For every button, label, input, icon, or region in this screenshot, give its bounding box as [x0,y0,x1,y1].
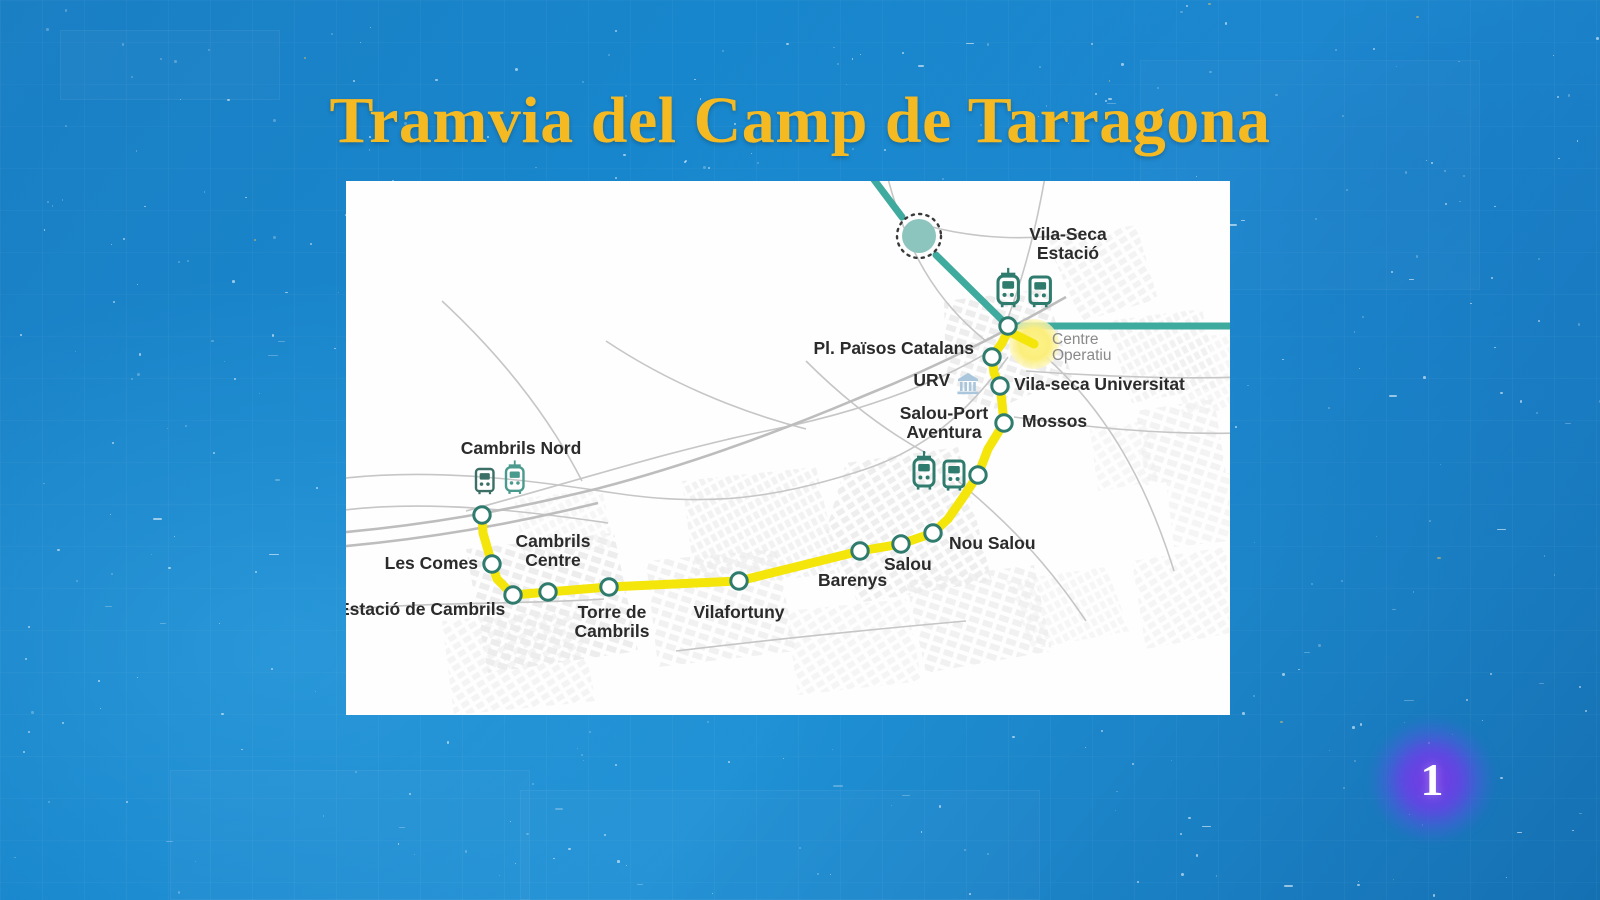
station-label-torre-de-cambrils[interactable]: Torre de Cambrils [551,603,673,640]
sparkle-dot [28,626,30,628]
station-marker-estacio-de-cambrils[interactable]: Estació de Cambrils [505,587,521,603]
station-label-nou-salou[interactable]: Nou Salou [949,534,1036,553]
sparkle-dot [1360,723,1362,725]
sparkle-dot [515,68,518,71]
sparkle-dot [1202,826,1212,827]
sparkle-dot [708,167,710,169]
sparkle-dot [1359,368,1360,369]
sparkle-dot [1109,80,1111,82]
sparkle-dot [1091,43,1093,45]
sparkle-dot [166,841,173,842]
sparkle-dot [52,205,53,206]
sparkle-dot [1544,555,1546,557]
sparkle-dot [604,834,606,836]
sparkle-dot [535,167,537,169]
station-label-vila-seca-universitat[interactable]: Vila-seca Universitat [1014,375,1185,394]
sparkle-dot [1196,176,1197,177]
sparkle-dot [23,751,25,753]
sparkle-dot [46,28,49,31]
sparkle-dot [1328,407,1330,409]
sparkle-dot [355,771,358,774]
sparkle-dot [939,805,942,808]
sparkle-dot [902,795,910,796]
sparkle-dot [1491,277,1493,279]
sparkle-dot [1416,16,1419,19]
sparkle-dot [1137,881,1139,883]
sparkle-dot [224,361,225,362]
sparkle-dot [1404,700,1414,701]
sparkle-dot [1538,320,1540,322]
sparkle-dot [1180,11,1183,14]
sparkle-dot [254,239,256,241]
sparkle-dot [1558,158,1559,159]
sparkle-dot [1373,48,1375,50]
sparkle-dot [208,49,210,51]
sparkle-dot [1494,347,1496,349]
sparkle-dot [852,58,853,59]
sparkle-dot [1208,3,1210,5]
sparkle-dot [65,9,68,12]
sparkle-dot [583,760,585,762]
sparkle-dot [1280,721,1283,724]
sparkle-dot [174,60,177,63]
sparkle-dot [964,849,966,851]
sparkle-dot [1247,385,1249,387]
sparkle-dot [1181,873,1184,876]
sparkle-dot [617,860,620,863]
sparkle-dot [272,334,275,337]
sparkle-dot [1585,710,1587,712]
sparkle-dot [123,238,126,241]
sparkle-dot [568,848,571,851]
sparkle-dot [268,355,277,356]
station-label-barenys[interactable]: Barenys [818,571,887,590]
sparkle-dot [195,861,196,862]
sparkle-dot [783,758,784,759]
sparkle-dot [1188,817,1191,820]
sparkle-dot [278,341,285,342]
sparkle-dot [1376,536,1377,537]
sparkle-dot [113,301,115,303]
sparkle-dot [1196,854,1198,856]
sparkle-dot [577,748,578,749]
sparkle-dot [1304,652,1310,653]
sparkle-dot [178,261,180,263]
sparkle-dot [234,378,236,380]
station-label-vilafortuny[interactable]: Vilafortuny [672,603,806,622]
station-marker-vila-seca-universitat[interactable]: Vila-seca Universitat [992,378,1008,394]
sparkle-dot [259,393,260,394]
sparkle-dot [722,50,724,52]
sparkle-dot [637,884,643,885]
sparkle-dot [1579,686,1581,688]
sparkle-dot [1298,669,1300,671]
slide-canvas: Tramvia del Camp de Tarragona [0,0,1600,900]
sparkle-dot [1500,392,1502,394]
sparkle-dot [526,833,529,836]
sparkle-dot [331,33,333,35]
sparkle-dot [137,284,138,285]
sparkle-dot [1121,63,1123,65]
sparkle-dot [969,893,971,895]
sparkle-dot [918,65,924,66]
sparkle-dot [62,722,64,724]
sparkle-dot [1437,557,1441,558]
sparkle-dot [111,244,112,245]
sparkle-dot [1396,66,1398,68]
station-label-urv[interactable]: URV [866,371,950,390]
sparkle-dot [232,280,235,283]
sparkle-dot [987,43,990,46]
station-label-mossos[interactable]: Mossos [1022,412,1087,431]
sparkle-dot [1318,644,1321,647]
station-marker-torre-de-cambrils[interactable]: Torre de Cambrils [601,579,617,595]
sparkle-dot [1171,760,1172,761]
station-label-estacio-de-cambrils[interactable]: Estació de Cambrils [346,600,505,619]
sparkle-dot [1132,763,1134,765]
sparkle-dot [1362,316,1364,318]
sparkle-dot [581,754,583,756]
sparkle-dot [1241,220,1246,221]
station-marker-salou[interactable]: Salou [893,536,909,552]
sparkle-dot [241,749,243,751]
sparkle-dot [1553,55,1554,56]
sparkle-dot [1536,412,1538,414]
sparkle-dot [1423,376,1426,379]
sparkle-dot [323,815,325,817]
sparkle-dot [902,52,904,54]
station-marker-cambrils-centre[interactable]: Cambrils Centre [540,584,556,600]
sparkle-dot [1012,736,1015,739]
sparkle-dot [139,353,142,356]
sparkle-dot [110,514,111,515]
sparkle-dot [43,483,44,484]
tram-network-map[interactable]: Cambrils NordLes ComesEstació de Cambril… [346,181,1230,715]
slide-number: 1 [1421,757,1444,803]
sparkle-dot [1490,673,1492,675]
sparkle-dot [532,783,534,785]
sparkle-dot [860,54,861,55]
sparkle-dot [1391,271,1393,273]
sparkle-dot [20,334,22,336]
sparkle-dot [47,201,49,203]
sparkle-dot [271,668,273,670]
sparkle-dot [1497,529,1506,530]
sparkle-dot [168,567,170,569]
sparkle-dot [153,518,162,519]
sparkle-dot [131,76,133,78]
sparkle-dot [334,348,335,349]
sparkle-dot [515,863,516,864]
depot-label-centre-operatiu: Centre Operatiu [1052,332,1172,365]
sparkle-dot [285,292,288,293]
sparkle-dot [1416,255,1419,258]
station-marker-salou-port-aventura[interactable]: Salou-Port Aventura [970,467,986,483]
sparkle-dot [48,801,50,803]
sparkle-dot [14,857,16,859]
sparkle-dot [1517,832,1522,833]
sparkle-dot [1329,750,1330,751]
sparkle-dot [786,43,788,45]
sparkle-dot [1389,395,1397,396]
sparkle-dot [553,858,555,860]
sparkle-dot [728,761,730,763]
sparkle-dot [398,843,400,845]
sparkle-dot [1341,580,1344,583]
sparkle-dot [187,260,189,262]
sparkle-dot [315,691,316,692]
sparkle-dot [1494,206,1495,207]
station-marker-vila-seca-estacio[interactable]: Vila-Seca Estació [1000,318,1016,334]
sparkle-dot [582,81,585,84]
station-marker-cambrils-nord[interactable]: Cambrils Nord [474,507,490,523]
sparkle-dot [269,554,279,555]
sparkle-dot [174,536,175,537]
sparkle-dot [1539,683,1544,684]
sparkle-dot [1426,160,1427,161]
sparkle-dot [987,853,990,856]
sparkle-dot [28,731,30,733]
sparkle-dot [757,162,759,164]
sparkle-dot [255,571,257,573]
sparkle-dot [830,874,831,875]
sparkle-dot [942,178,944,180]
sparkle-dot [137,677,138,678]
sparkle-dot [1440,464,1441,465]
sparkle-dot [204,191,206,193]
sparkle-dot [111,573,114,576]
sparkle-dot [1209,71,1212,74]
sparkle-dot [1180,833,1182,835]
sparkle-dot [1115,810,1116,811]
sparkle-dot [399,827,405,828]
station-label-salou[interactable]: Salou [884,555,932,574]
sparkle-dot [1470,303,1472,305]
sparkle-dot [1538,258,1540,260]
sparkle-dot [1458,61,1460,63]
sparkle-dot [316,487,318,489]
sparkle-dot [273,236,276,239]
sparkle-dot [447,741,449,743]
sparkle-dot [1352,726,1355,729]
station-label-cambrils-nord[interactable]: Cambrils Nord [424,439,618,458]
station-marker-pl-paisos-catalans[interactable]: Pl. Països Catalans [984,349,1000,365]
station-label-les-comes[interactable]: Les Comes [346,554,478,573]
sparkle-dot [1235,426,1237,428]
sparkle-dot [1429,520,1431,522]
station-label-cambrils-centre[interactable]: Cambrils Centre [489,532,617,569]
sparkle-dot [1565,423,1571,424]
sparkle-dot [75,351,76,352]
sparkle-dot [1554,574,1556,576]
sparkle-dot [1444,170,1445,171]
sparkle-dot [221,713,224,716]
station-marker-vilafortuny[interactable]: Vilafortuny [731,573,747,589]
sparkle-dot [435,79,438,82]
sparkle-dot [338,292,339,293]
sparkle-dot [1445,203,1447,205]
sparkle-dot [799,847,801,849]
sparkle-dot [98,680,99,681]
sparkle-dot [100,708,101,709]
sparkle-dot [137,373,140,376]
sparkle-dot [414,854,415,855]
sparkle-dot [1315,218,1317,220]
sparkle-dot [1393,879,1395,881]
sparkle-dot [76,580,78,582]
sparkle-dot [131,378,133,380]
sparkle-dot [360,42,361,43]
background-ghost-panel [170,770,530,900]
sparkle-dot [1186,5,1188,7]
sparkle-dot [685,160,687,162]
sparkle-dot [211,340,214,343]
sparkle-dot [1578,323,1580,325]
sparkle-dot [1253,695,1255,697]
sparkle-dot [1596,37,1599,40]
sparkle-dot [167,428,168,429]
sparkle-dot [1116,791,1117,792]
sparkle-dot [1282,673,1284,675]
sparkle-dot [499,875,500,876]
sparkle-dot [31,711,34,714]
sparkle-dot [310,243,312,245]
sparkle-dot [151,554,152,555]
sparkle-dot [833,785,843,786]
sparkle-dot [615,30,617,32]
sparkle-dot [1506,877,1507,878]
sparkle-dot [555,808,563,809]
station-label-vila-seca-estacio[interactable]: Vila-Seca Estació [983,225,1153,262]
sparkle-dot [615,764,617,766]
sparkle-dot [1346,189,1348,191]
sparkle-dot [122,43,125,46]
sparkle-dot [144,206,146,208]
sparkle-dot [1254,542,1255,543]
sparkle-dot [1409,279,1414,280]
sparkle-dot [126,801,128,803]
sparkle-dot [1433,894,1436,897]
sparkle-dot [105,606,113,607]
sparkle-dot [1101,730,1103,732]
sparkle-dot [707,721,709,723]
sparkle-dot [1039,66,1041,68]
sparkle-dot [219,623,220,624]
sparkle-dot [837,63,839,65]
sparkle-dot [1358,881,1360,883]
sparkle-dot [510,821,511,822]
sparkle-dot [353,80,355,82]
page-title: Tramvia del Camp de Tarragona [0,86,1600,155]
sparkle-dot [1520,400,1522,402]
sparkle-dot [1579,813,1582,814]
sparkle-dot [921,831,922,832]
sparkle-dot [25,658,27,660]
station-label-salou-port-aventura[interactable]: Salou-Port Aventura [864,404,1024,441]
sparkle-dot [817,873,818,874]
station-marker-barenys[interactable]: Barenys [852,543,868,559]
station-label-pl-paisos-catalans[interactable]: Pl. Països Catalans [726,339,974,358]
sparkle-dot [684,161,686,163]
sparkle-dot [44,229,46,231]
sparkle-dot [891,805,892,806]
sparkle-dot [1335,49,1337,51]
sparkle-dot [160,58,162,60]
sparkle-dot [626,865,628,867]
sparkle-dot [966,43,974,44]
sparkle-dot [1354,760,1356,762]
sparkle-dot [57,549,59,551]
sparkle-dot [589,731,591,733]
background-ghost-panel [520,790,1040,900]
sparkle-dot [409,793,411,795]
station-marker-nou-salou[interactable]: Nou Salou [925,525,941,541]
sparkle-dot [275,479,280,480]
sparkle-dot [1225,22,1228,25]
sparkle-dot [1431,162,1433,164]
sparkle-dot [712,893,713,894]
sparkle-dot [1282,359,1284,361]
sparkle-dot [213,452,216,455]
sparkle-dot [1413,591,1415,593]
sparkle-dot [1284,885,1293,886]
sparkle-dot [1466,699,1468,701]
sparkle-dot [703,166,706,169]
sparkle-dot [1392,609,1396,610]
sparkle-dot [1242,712,1245,715]
sparkle-dot [615,177,617,179]
sparkle-dot [1085,747,1086,748]
sparkle-dot [62,199,63,200]
sparkle-dot [160,623,166,624]
sparkle-dot [832,749,833,750]
sparkle-dot [1354,331,1356,333]
sparkle-dot [245,197,247,199]
sparkle-dot [1405,171,1408,174]
sparkle-dot [1357,884,1360,887]
sparkle-dot [185,425,187,427]
sparkle-dot [178,891,181,894]
sparkle-dot [1343,787,1345,789]
sparkle-dot [304,57,306,59]
sparkle-dot [112,442,114,444]
sparkle-dot [1572,830,1573,831]
sparkle-dot [1500,777,1503,780]
sparkle-dot [1311,583,1313,585]
sparkle-dot [1216,875,1218,877]
sparkle-dot [370,27,372,29]
sparkle-dot [465,850,468,853]
sparkle-dot [694,79,696,81]
sparkle-dot [1459,201,1461,203]
sparkle-dot [1463,175,1466,178]
slide-number-badge: 1 [1372,720,1492,840]
sparkle-dot [608,54,610,56]
sparkle-dot [833,47,834,48]
